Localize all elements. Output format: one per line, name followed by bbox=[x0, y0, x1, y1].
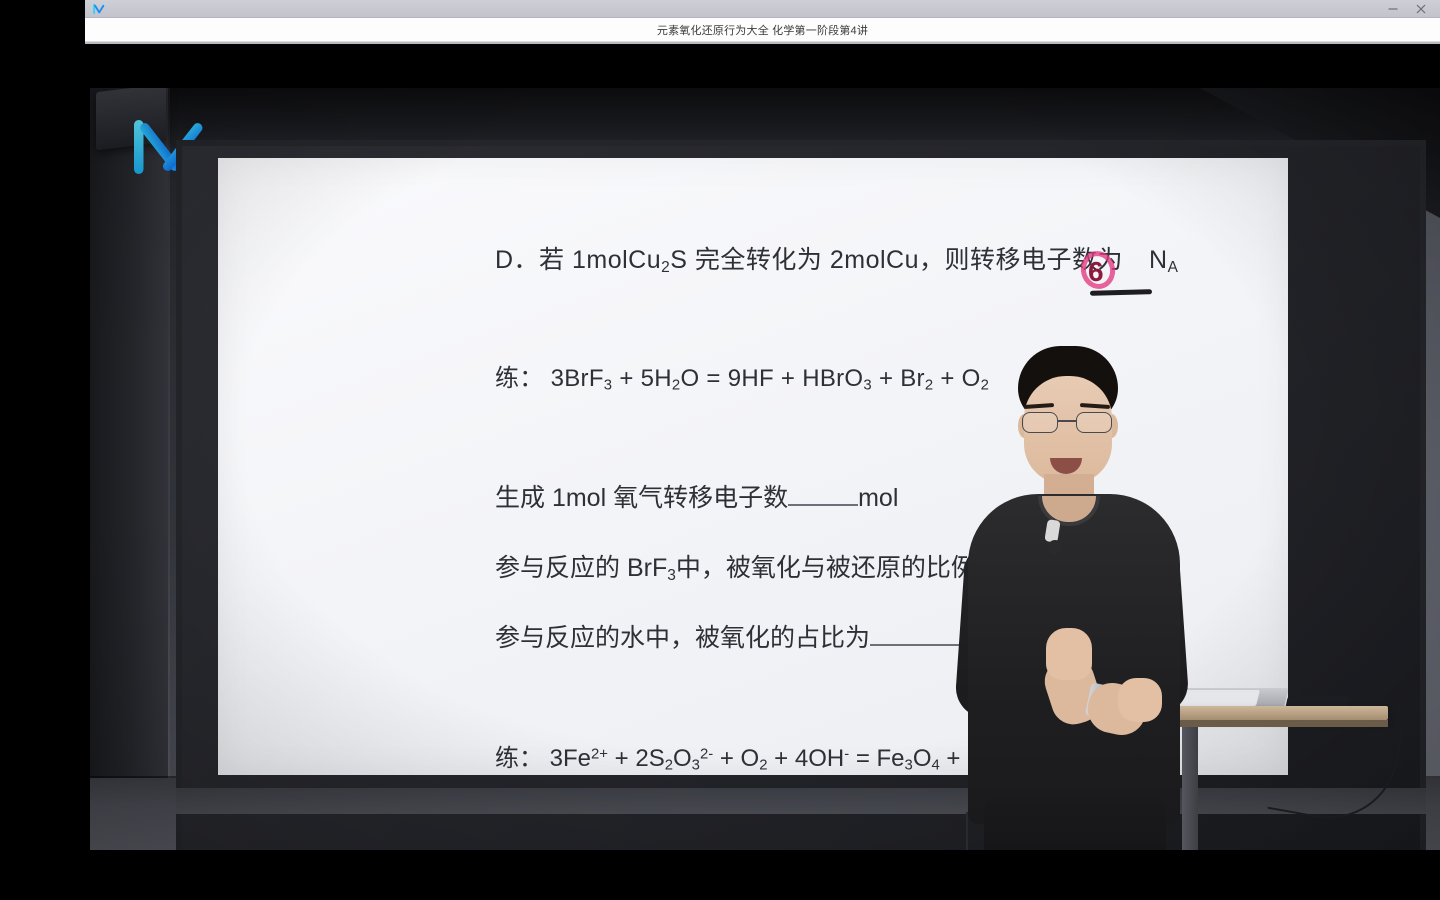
option-d-mid: S 完全转化为 2molCu，则转移电子数为 bbox=[670, 246, 1123, 274]
option-d-prefix: D．若 1molCu bbox=[495, 246, 661, 274]
slide-line-question-2: 参与反应的 BrF3中，被氧化与被还原的比例为 bbox=[495, 548, 1001, 585]
option-d-suffix: N bbox=[1149, 246, 1168, 274]
pillar-edge bbox=[168, 88, 170, 850]
tab-strip: 元素氧化还原行为大全 化学第一阶段第4讲 bbox=[85, 18, 1440, 42]
window-controls bbox=[1386, 2, 1428, 16]
question-2-after: 中，被氧化与被还原的比例为 bbox=[676, 554, 1001, 582]
lx-app-icon bbox=[92, 2, 106, 16]
presenter-cable bbox=[966, 812, 1010, 850]
option-d-sub1: 2 bbox=[661, 259, 670, 276]
question-2-sub: 3 bbox=[667, 567, 676, 584]
lapel-mic-head bbox=[1048, 540, 1062, 554]
close-icon[interactable] bbox=[1414, 2, 1428, 16]
question-1-blank bbox=[788, 504, 858, 506]
minimize-icon[interactable] bbox=[1386, 2, 1400, 16]
slide-line-option-d: D．若 1molCu2S 完全转化为 2molCu，则转移电子数为NA bbox=[495, 240, 1178, 277]
presenter-pants bbox=[984, 796, 1166, 850]
window-titlebar bbox=[85, 0, 1440, 18]
slide-line-equation-2: 练： 3Fe2+ + 2S2O32- + O2 + 4OH- = Fe3O4 +… bbox=[495, 738, 1032, 774]
presenter-hand-left bbox=[1046, 628, 1092, 680]
presenter-figure bbox=[960, 346, 1210, 850]
question-1-before: 生成 1mol 氧气转移电子数 bbox=[495, 484, 788, 512]
equation-1-label: 练： bbox=[495, 365, 544, 392]
question-1-after: mol bbox=[858, 484, 898, 512]
question-3-before: 参与反应的水中，被氧化的占比为 bbox=[495, 624, 870, 652]
video-player-surface[interactable]: D．若 1molCu2S 完全转化为 2molCu，则转移电子数为NA 练： 3… bbox=[90, 88, 1440, 850]
slide-line-equation-1: 练： 3BrF3 + 5H2O = 9HF + HBrO3 + Br2 + O2 bbox=[495, 358, 989, 394]
slide-line-question-1: 生成 1mol 氧气转移电子数mol bbox=[495, 478, 898, 514]
slide-line-question-3: 参与反应的水中，被氧化的占比为 bbox=[495, 618, 962, 654]
glasses-icon bbox=[1018, 412, 1118, 434]
studio-pillar bbox=[90, 88, 168, 850]
screen-root: 元素氧化还原行为大全 化学第一阶段第4讲 bbox=[0, 0, 1440, 900]
annotation-value-six: 6 bbox=[1088, 256, 1104, 288]
tab-lesson-title[interactable]: 元素氧化还原行为大全 化学第一阶段第4讲 bbox=[657, 22, 868, 38]
presenter-hand-right bbox=[1118, 678, 1162, 722]
equation-2-label: 练： bbox=[495, 745, 543, 772]
app-window: 元素氧化还原行为大全 化学第一阶段第4讲 bbox=[85, 0, 1440, 44]
question-2-before: 参与反应的 BrF bbox=[495, 554, 667, 582]
chrome-shadow bbox=[85, 42, 1440, 44]
question-3-blank bbox=[870, 644, 962, 646]
option-d-sub2: A bbox=[1168, 259, 1179, 276]
